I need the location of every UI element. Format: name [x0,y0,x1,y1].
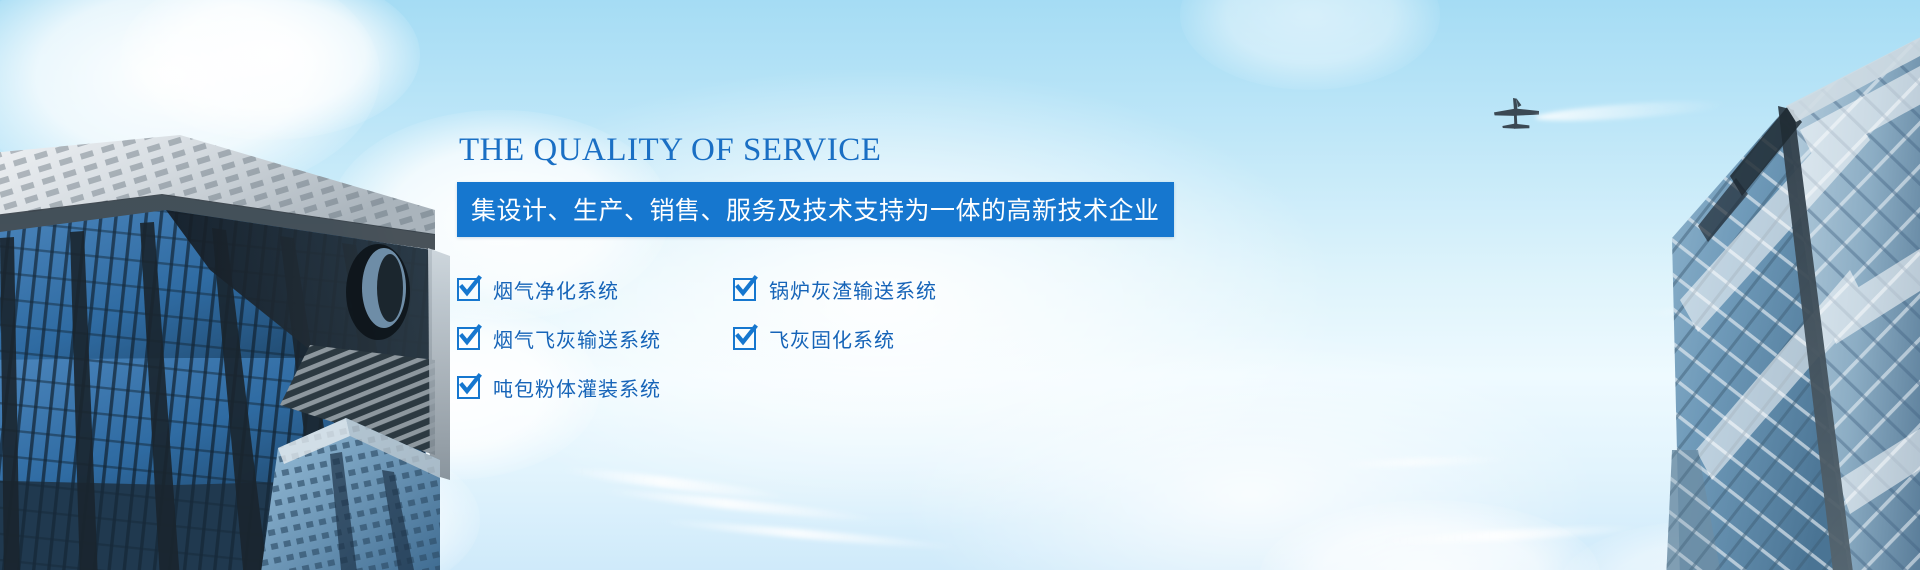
feature-label: 锅炉灰渣输送系统 [769,275,937,304]
feature-row: 烟气净化系统 锅炉灰渣输送系统 [457,275,1217,304]
cloud-wisp-5 [1330,455,1510,469]
checkbox-checked-icon[interactable] [457,376,480,399]
subtitle-bar: 集设计、生产、销售、服务及技术支持为一体的高新技术企业 [457,182,1174,237]
page-title: THE QUALITY OF SERVICE [459,132,1217,168]
checkbox-checked-icon[interactable] [457,278,480,301]
cloud-bottom-far-right [1560,520,1860,570]
feature-list: 烟气净化系统 锅炉灰渣输送系统 [457,275,1217,402]
cloud-top-right [1180,0,1440,90]
feature-item-smoke-purification[interactable]: 烟气净化系统 [457,275,733,304]
cloud-wisp-1 [560,464,790,503]
cloud-top-left-2 [120,0,420,140]
banner-content: THE QUALITY OF SERVICE 集设计、生产、销售、服务及技术支持… [457,132,1217,422]
right-skyscraper [1430,0,1920,570]
feature-row: 吨包粉体灌装系统 [457,373,1217,402]
feature-item-flue-gas-fly-ash-conveying[interactable]: 烟气飞灰输送系统 [457,324,733,353]
feature-label: 烟气飞灰输送系统 [493,324,661,353]
feature-label: 飞灰固化系统 [769,324,895,353]
cloud-wisp-4 [1380,523,1640,547]
cloud-wisp-6 [1640,290,1840,320]
left-skyscraper [0,60,450,570]
cloud-top-left [0,0,380,200]
airplane-icon [1483,96,1541,130]
feature-label: 吨包粉体灌装系统 [493,373,661,402]
left-secondary-building [250,390,440,570]
cloud-wisp-2 [600,485,880,524]
feature-item-bulk-bag-powder-filling[interactable]: 吨包粉体灌装系统 [457,373,733,402]
cloud-wisp-3 [660,517,960,552]
cloud-bottom-left [120,430,480,570]
hero-banner: THE QUALITY OF SERVICE 集设计、生产、销售、服务及技术支持… [0,0,1920,570]
checkbox-checked-icon[interactable] [733,278,756,301]
feature-row: 烟气飞灰输送系统 飞灰固化系统 [457,324,1217,353]
checkbox-checked-icon[interactable] [457,327,480,350]
feature-label: 烟气净化系统 [493,275,619,304]
checkbox-checked-icon[interactable] [733,327,756,350]
feature-item-fly-ash-solidification[interactable]: 飞灰固化系统 [733,324,1009,353]
jet-contrail [1535,97,1726,124]
feature-item-boiler-ash-conveying[interactable]: 锅炉灰渣输送系统 [733,275,1009,304]
cloud-bottom-right [1260,500,1600,570]
